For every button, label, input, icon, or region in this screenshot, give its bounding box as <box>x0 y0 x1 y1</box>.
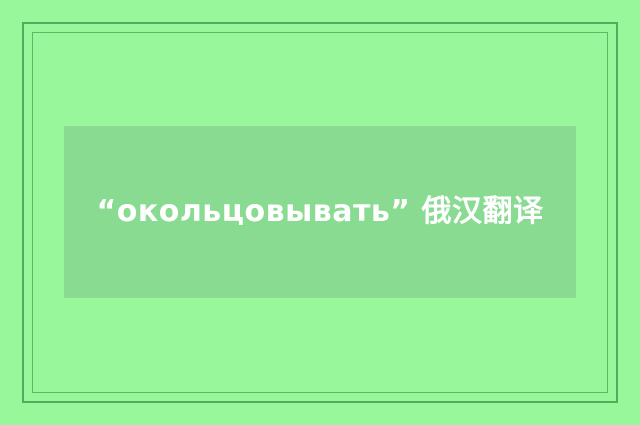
image-canvas: “окольцовывать” 俄汉翻译 <box>0 0 640 425</box>
page-title: “окольцовывать” 俄汉翻译 <box>64 184 576 240</box>
title-plate: “окольцовывать” 俄汉翻译 <box>64 126 576 298</box>
